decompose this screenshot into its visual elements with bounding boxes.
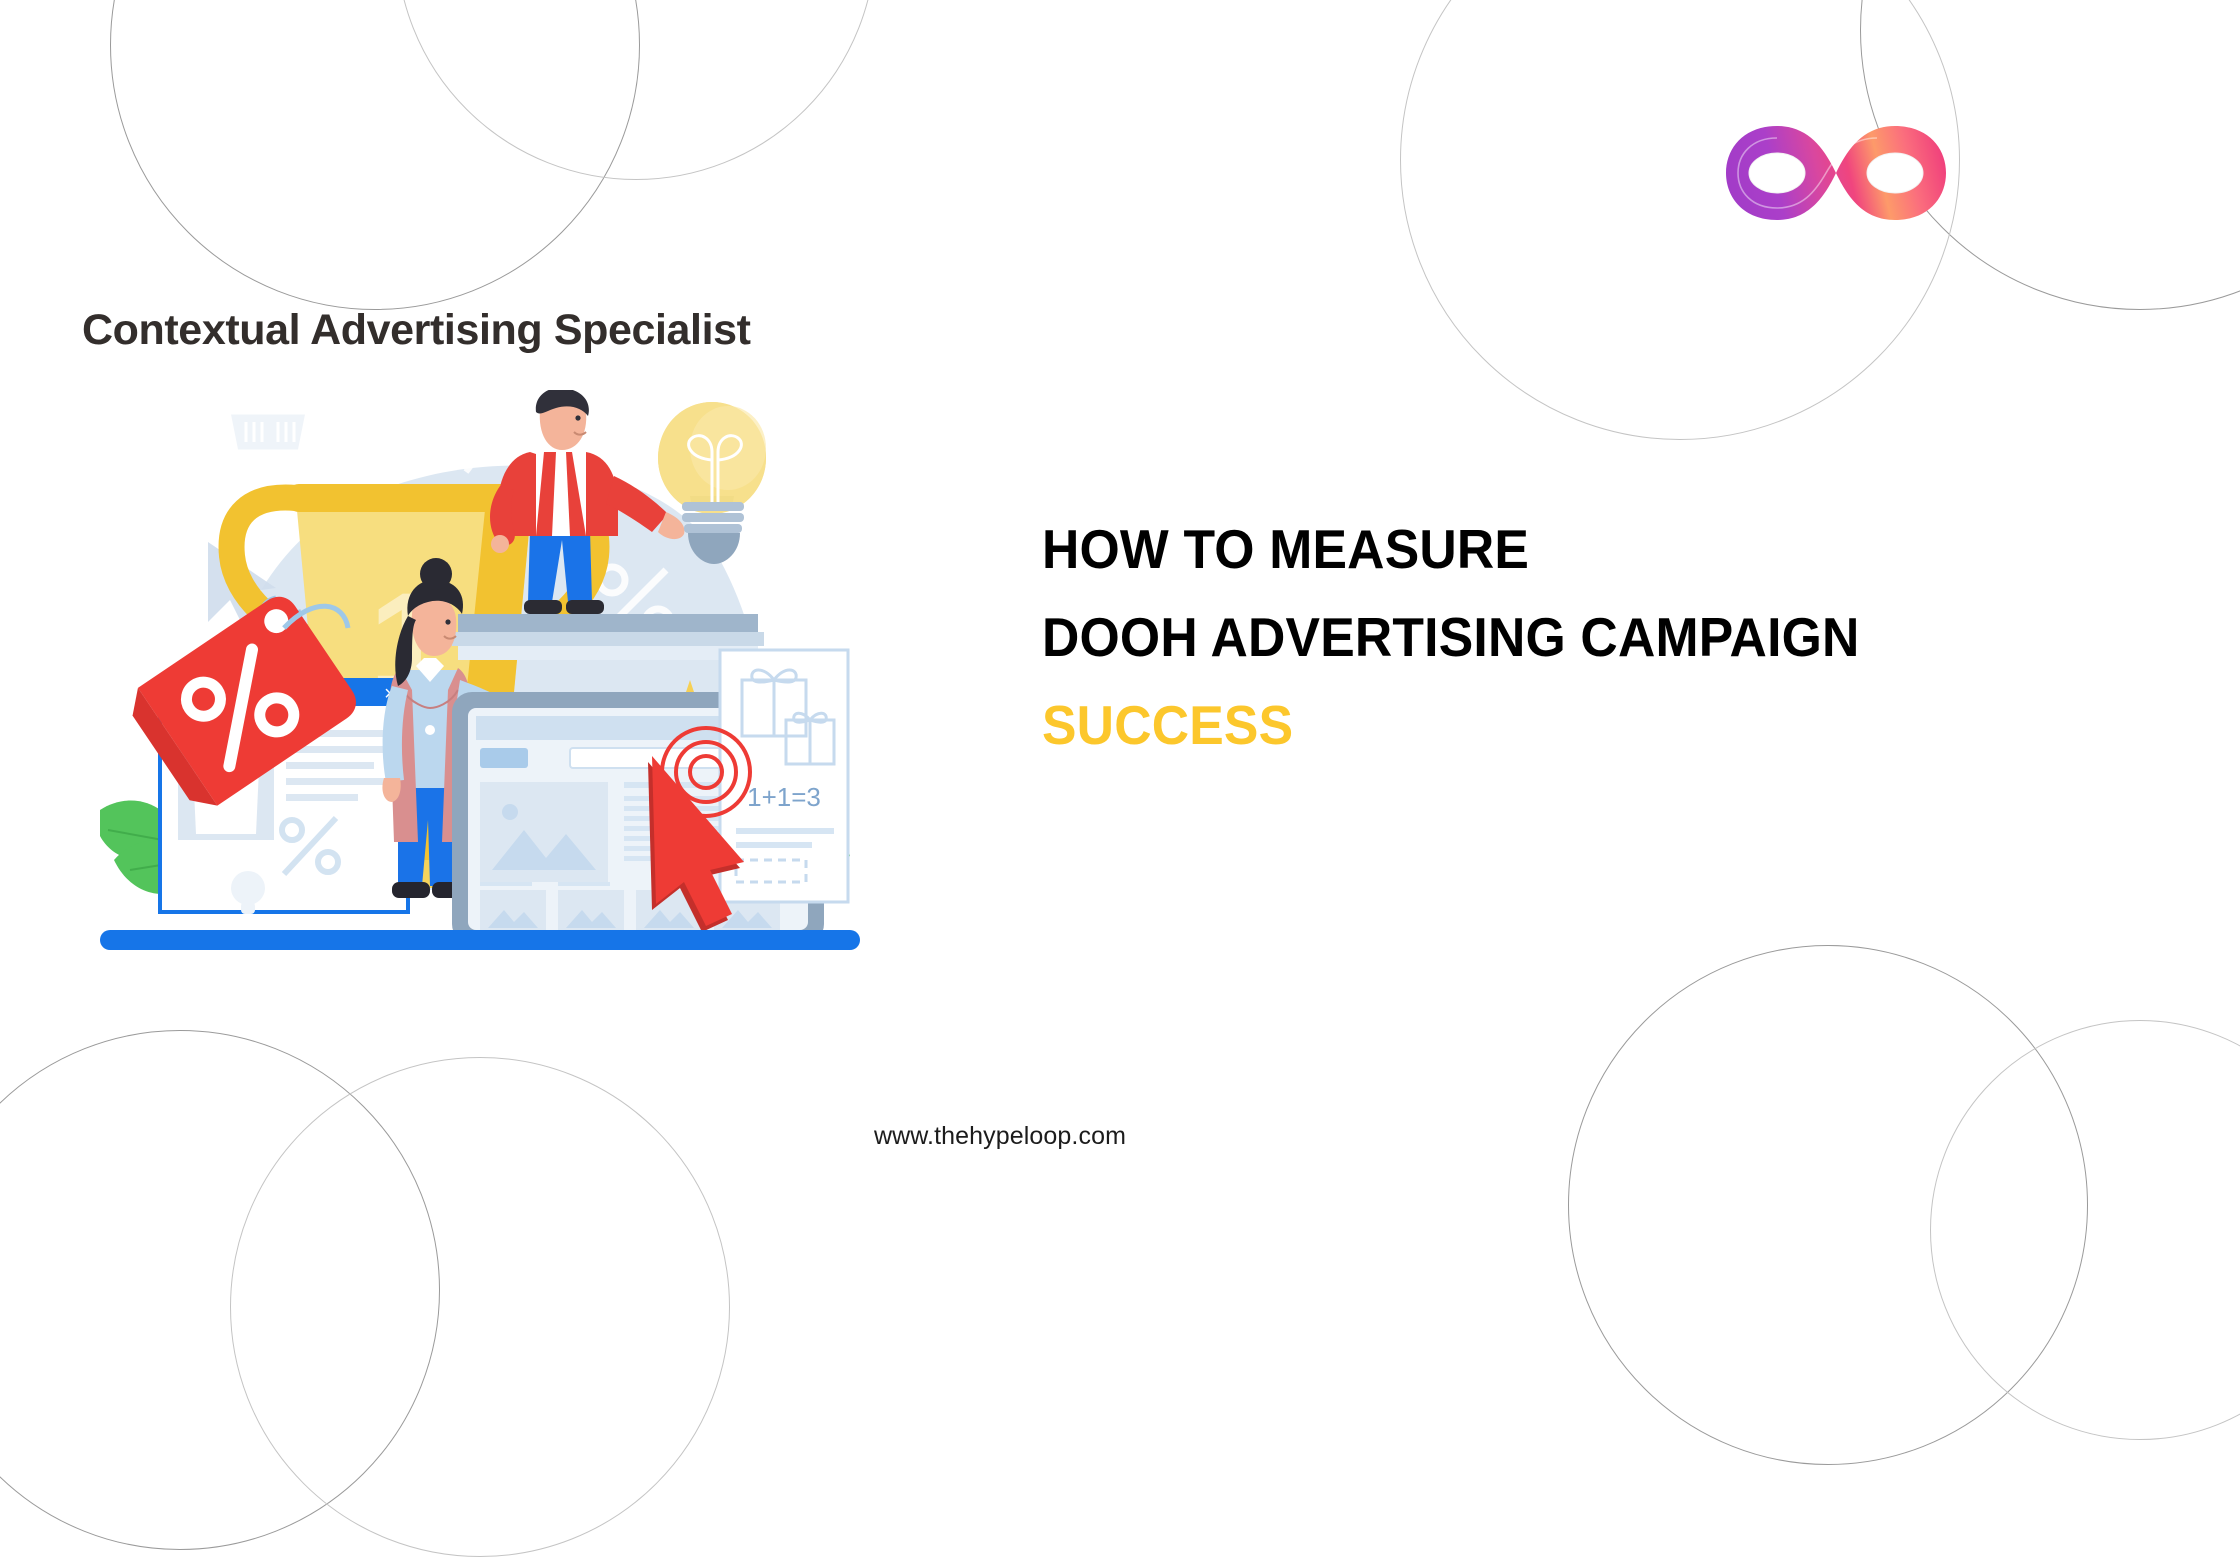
base-bar — [100, 930, 860, 950]
main-title: HOW TO MEASURE DOOH ADVERTISING CAMPAIGN… — [1042, 505, 1912, 769]
equation-label: 1+1=3 — [747, 782, 821, 812]
title-line-2: DOOH ADVERTISING CAMPAIGN — [1042, 593, 1860, 681]
hero-illustration: 1 — [100, 390, 860, 950]
title-line-1: HOW TO MEASURE — [1042, 505, 1860, 593]
infinity-logo-icon — [1722, 118, 1950, 228]
deco-circle-bottom-left-1 — [0, 1030, 440, 1550]
footer-url-text: www.thehypeloop.com — [874, 1122, 1126, 1150]
slide-canvas: Contextual Advertising Specialist — [0, 0, 2240, 1260]
deco-circle-bottom-right-2 — [1930, 1020, 2240, 1440]
deco-circle-top-left-2 — [396, 0, 876, 180]
page-kicker-heading: Contextual Advertising Specialist — [82, 306, 751, 355]
deco-circle-top-left-1 — [110, 0, 640, 310]
title-line-3-accent: SUCCESS — [1042, 681, 1860, 769]
deco-circle-bottom-right-1 — [1568, 945, 2088, 1465]
podium — [452, 614, 764, 660]
gift-coupon-card: 1+1=3 — [720, 650, 848, 902]
footer-website-url[interactable]: www.thehypeloop.com — [0, 1122, 2240, 1151]
brand-logo[interactable] — [1722, 118, 1950, 228]
